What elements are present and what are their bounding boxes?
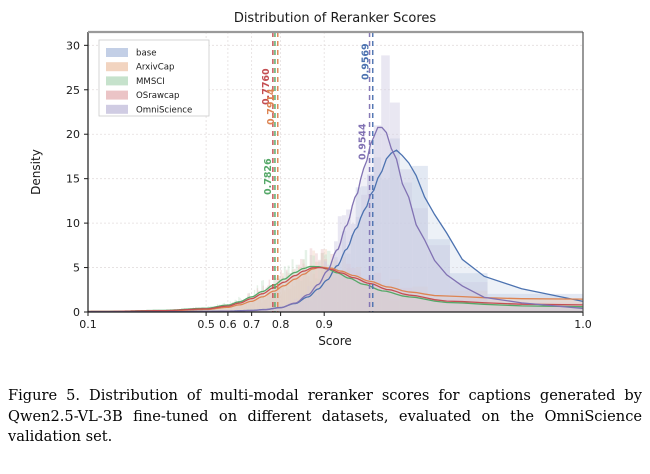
y-axis-label: Density — [29, 149, 43, 195]
x-axis-label: Score — [318, 334, 352, 348]
x-tick-label: 0.9 — [315, 318, 333, 331]
legend-swatch-arxivcap — [106, 62, 128, 71]
legend-label-arxivcap: ArxivCap — [136, 63, 174, 73]
mean-line-label-base: 0.9569 — [361, 43, 372, 80]
legend-label-base: base — [136, 49, 157, 59]
x-tick-label: 0.6 — [219, 318, 237, 331]
legend-swatch-omniscience — [106, 105, 128, 114]
x-tick-label: 0.5 — [197, 318, 215, 331]
legend-label-omniscience: OmniScience — [136, 105, 192, 115]
y-tick-label: 0 — [73, 306, 80, 319]
y-tick-label: 20 — [66, 128, 80, 141]
y-tick-label: 30 — [66, 39, 80, 52]
y-tick-label: 10 — [66, 217, 80, 230]
y-tick-label: 25 — [66, 84, 80, 97]
y-tick-label: 5 — [73, 262, 80, 275]
figure-caption: Figure 5. Distribution of multi-modal re… — [8, 386, 642, 448]
legend-swatch-osrawcap — [106, 91, 128, 100]
x-tick-label: 0.1 — [79, 318, 97, 331]
y-tick-label: 15 — [66, 173, 80, 186]
mean-line-label-mmsci: 0.7826 — [263, 158, 274, 195]
reranker-score-distribution-chart: Distribution of Reranker Scores 0.77600.… — [0, 0, 650, 372]
chart-legend[interactable]: baseArxivCapMMSCIOSrawcapOmniScience — [99, 40, 209, 116]
mean-line-label-omniscience: 0.9544 — [358, 123, 369, 160]
x-axis-ticks: 0.10.50.60.70.80.91.0 — [79, 312, 592, 331]
x-tick-label: 0.7 — [243, 318, 261, 331]
x-tick-label: 0.8 — [272, 318, 290, 331]
mean-line-label-arxivcap: 0.7914 — [266, 88, 277, 125]
chart-title: Distribution of Reranker Scores — [234, 11, 437, 26]
legend-swatch-base — [106, 48, 128, 57]
figure-panel: Distribution of Reranker Scores 0.77600.… — [0, 0, 650, 372]
y-axis-ticks: 051015202530 — [66, 39, 88, 319]
x-tick-label: 1.0 — [574, 318, 592, 331]
legend-label-osrawcap: OSrawcap — [136, 91, 180, 101]
legend-swatch-mmsci — [106, 76, 128, 85]
legend-label-mmsci: MMSCI — [136, 77, 165, 87]
